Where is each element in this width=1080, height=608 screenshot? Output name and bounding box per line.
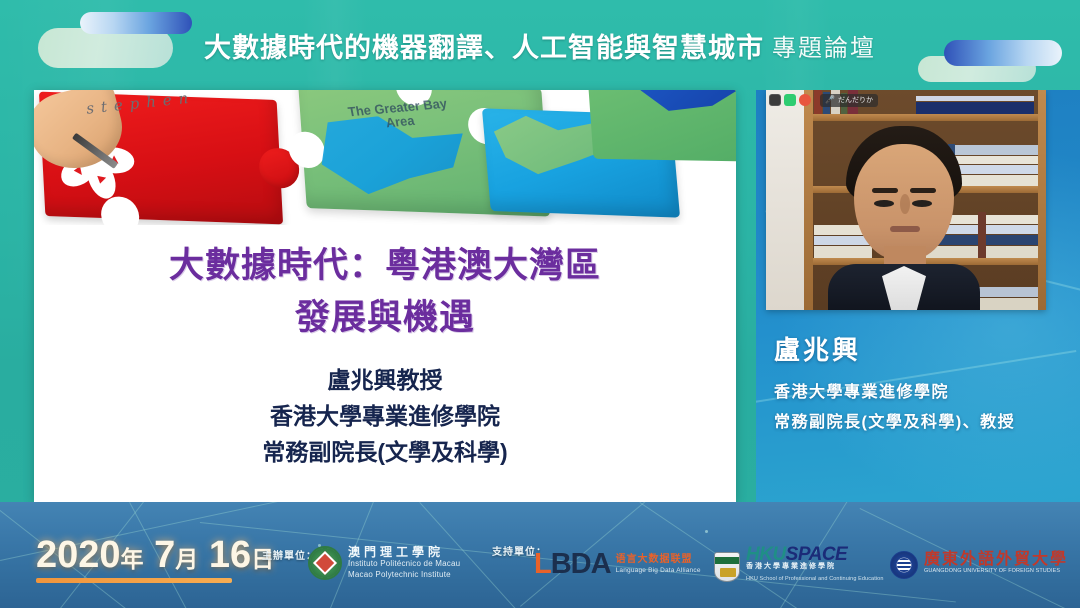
lbda-cn: 语言大数据联盟 bbox=[616, 554, 701, 565]
date-year-unit: 年 bbox=[121, 546, 144, 572]
record-icon[interactable] bbox=[799, 94, 811, 106]
puzzle-piece-green-top bbox=[587, 90, 736, 162]
lbda-wordmark: LBDA bbox=[534, 550, 611, 579]
hku-space-wordmark: HKUSPACE bbox=[746, 549, 884, 561]
forum-header-title: 大數據時代的機器翻譯、人工智能與智慧城市專題論壇 bbox=[0, 26, 1080, 65]
gdufs-cn: 廣東外語外貿大學 bbox=[924, 552, 1068, 565]
macao-polytechnic-en: Macao Polytechnic Institute bbox=[348, 569, 460, 580]
date-day: 16 bbox=[209, 534, 251, 576]
speaker-panel: 🎤 だんだりか 盧兆興 香港大學專業進修學院 常務副院長(文學及科學)、教授 bbox=[756, 90, 1080, 502]
video-control-bar[interactable]: 🎤 だんだりか bbox=[769, 93, 878, 107]
slide-title-line-2: 發展與機遇 bbox=[34, 292, 736, 344]
slide-title: 大數據時代：粵港澳大灣區 發展與機遇 bbox=[34, 240, 736, 344]
portrait-brow bbox=[910, 188, 936, 193]
date-month-unit: 月 bbox=[175, 546, 198, 572]
mute-status-icon[interactable] bbox=[784, 94, 796, 106]
slide-subtitle-line-3: 常務副院長(文學及科學) bbox=[34, 434, 736, 470]
slide-artwork-puzzle: stephen The Greater Bay Area bbox=[34, 90, 736, 225]
date-year: 2020 bbox=[36, 534, 121, 576]
hku-space-en: HKU School of Professional and Continuin… bbox=[746, 573, 884, 585]
slide-subtitle-line-2: 香港大學專業進修學院 bbox=[34, 398, 736, 434]
gdufs-crest-icon bbox=[890, 551, 918, 579]
video-wall bbox=[766, 90, 804, 310]
slide-title-line-1: 大數據時代：粵港澳大灣區 bbox=[34, 240, 736, 292]
gdufs-en: GUANGDONG UNIVERSITY OF FOREIGN STUDIES bbox=[924, 565, 1068, 578]
macao-polytechnic-crest-icon bbox=[308, 546, 342, 580]
logo-gdufs: 廣東外語外貿大學 GUANGDONG UNIVERSITY OF FOREIGN… bbox=[890, 551, 1068, 579]
portrait-mouth bbox=[890, 226, 920, 232]
lbda-mark-bda: BDA bbox=[551, 548, 611, 580]
portrait-eye bbox=[912, 200, 932, 207]
speaker-org-line-2: 常務副院長(文學及科學)、教授 bbox=[774, 408, 1080, 438]
slide-subtitle-line-1: 盧兆興教授 bbox=[34, 362, 736, 398]
speaker-video-tile[interactable]: 🎤 だんだりか bbox=[766, 90, 1046, 310]
portrait-brow bbox=[872, 188, 898, 193]
presentation-slide[interactable]: stephen The Greater Bay Area 大數據時代：粵港澳大灣… bbox=[34, 90, 736, 502]
logo-lbda: LBDA 语言大数据联盟 Language Big Data Alliance bbox=[534, 550, 701, 579]
shelf-post bbox=[804, 90, 813, 310]
date-month: 7 bbox=[154, 534, 175, 576]
logo-macao-polytechnic: 澳門理工學院 Instituto Politécnico de Macau Ma… bbox=[308, 546, 460, 580]
date-underline bbox=[36, 578, 232, 583]
speaker-name: 盧兆興 bbox=[774, 330, 1074, 367]
shelf-post bbox=[1038, 90, 1046, 310]
portrait-nose bbox=[900, 194, 910, 214]
book-row bbox=[916, 90, 1036, 114]
settings-icon[interactable] bbox=[769, 94, 781, 106]
speaker-portrait bbox=[824, 126, 984, 310]
portrait-eye bbox=[874, 200, 894, 207]
header-title-main: 大數據時代的機器翻譯、人工智能與智慧城市 bbox=[204, 33, 764, 63]
participant-name-badge: 🎤 だんだりか bbox=[820, 94, 878, 107]
event-date: 2020年 7月 16日 bbox=[36, 534, 274, 577]
network-node bbox=[705, 530, 708, 533]
greater-bay-area-label: The Greater Bay Area bbox=[332, 95, 465, 134]
slide-subtitle-block: 盧兆興教授 香港大學專業進修學院 常務副院長(文學及科學) bbox=[34, 362, 736, 470]
microphone-icon: 🎤 bbox=[825, 96, 835, 104]
shelf-plank bbox=[804, 114, 1046, 121]
logo-hku-space: HKUSPACE 香港大學專業進修學院 HKU School of Profes… bbox=[714, 549, 884, 585]
macao-polytechnic-cn: 澳門理工學院 bbox=[348, 547, 460, 558]
hku-crest-icon bbox=[714, 552, 740, 582]
macao-polytechnic-pt: Instituto Politécnico de Macau bbox=[348, 558, 460, 569]
presentation-stage: 大數據時代的機器翻譯、人工智能與智慧城市專題論壇 stephen bbox=[0, 0, 1080, 608]
lbda-mark-l: L bbox=[534, 548, 551, 580]
speaker-org-line-1: 香港大學專業進修學院 bbox=[774, 378, 1080, 408]
header-title-suffix: 專題論壇 bbox=[772, 35, 876, 62]
lbda-en: Language Big Data Alliance bbox=[616, 565, 701, 576]
hku-space-cn: 香港大學專業進修學院 bbox=[746, 561, 884, 573]
speaker-org-block: 香港大學專業進修學院 常務副院長(文學及科學)、教授 bbox=[774, 378, 1080, 438]
participant-name: だんだりか bbox=[838, 94, 873, 107]
macao-polytechnic-text: 澳門理工學院 Instituto Politécnico de Macau Ma… bbox=[348, 547, 460, 580]
map-sea-area bbox=[639, 90, 736, 117]
